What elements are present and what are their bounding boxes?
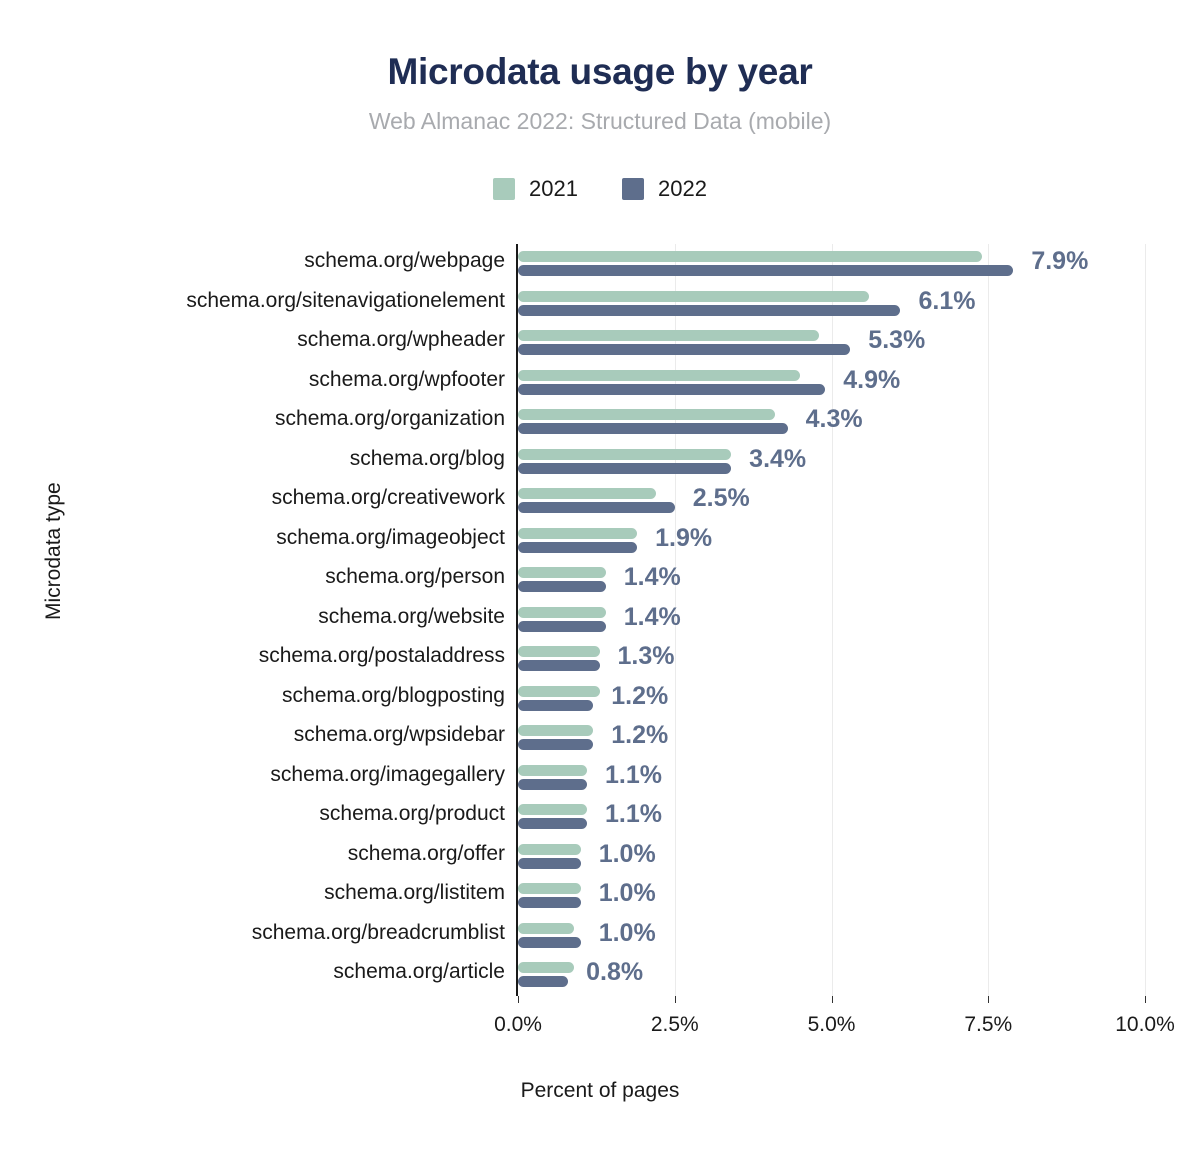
bar-2022[interactable] — [518, 542, 637, 553]
value-label: 7.9% — [1031, 250, 1088, 272]
value-label: 1.0% — [599, 882, 656, 904]
value-label: 3.4% — [749, 448, 806, 470]
bar-2021[interactable] — [518, 370, 800, 381]
value-label: 5.3% — [868, 329, 925, 351]
value-label: 1.2% — [611, 685, 668, 707]
x-tick-mark — [518, 996, 519, 1003]
legend-swatch-2021 — [493, 178, 515, 200]
value-label: 1.0% — [599, 922, 656, 944]
category-label: schema.org/wpheader — [297, 329, 505, 350]
category-label: schema.org/blog — [350, 448, 505, 469]
bar-2022[interactable] — [518, 384, 825, 395]
bar-2022[interactable] — [518, 305, 900, 316]
x-tick-label: 5.0% — [808, 1013, 856, 1037]
value-label: 1.3% — [618, 645, 675, 667]
chart-legend: 2021 2022 — [0, 176, 1200, 202]
x-tick-mark — [1145, 996, 1146, 1003]
category-label: schema.org/sitenavigationelement — [186, 290, 505, 311]
value-label: 1.0% — [599, 843, 656, 865]
chart-title: Microdata usage by year — [0, 52, 1200, 93]
value-label: 1.4% — [624, 566, 681, 588]
value-label: 1.4% — [624, 606, 681, 628]
legend-item-2021[interactable]: 2021 — [493, 176, 578, 202]
bar-row: schema.org/organization4.3% — [518, 402, 1145, 442]
bar-2022[interactable] — [518, 818, 587, 829]
category-label: schema.org/creativework — [272, 487, 505, 508]
value-label: 1.9% — [655, 527, 712, 549]
x-axis-title: Percent of pages — [0, 1079, 1200, 1103]
category-label: schema.org/offer — [348, 843, 505, 864]
value-label: 4.9% — [843, 369, 900, 391]
category-label: schema.org/imageobject — [276, 527, 505, 548]
bar-2022[interactable] — [518, 897, 581, 908]
bar-row: schema.org/imagegallery1.1% — [518, 758, 1145, 798]
bar-row: schema.org/offer1.0% — [518, 837, 1145, 877]
bar-row: schema.org/wpsidebar1.2% — [518, 718, 1145, 758]
bar-row: schema.org/blogposting1.2% — [518, 679, 1145, 719]
legend-label-2022: 2022 — [658, 176, 707, 202]
legend-item-2022[interactable]: 2022 — [622, 176, 707, 202]
bar-2022[interactable] — [518, 976, 568, 987]
y-axis-title: Microdata type — [42, 482, 66, 620]
chart-container: Microdata usage by year Web Almanac 2022… — [0, 0, 1200, 1164]
bar-row: schema.org/wpfooter4.9% — [518, 363, 1145, 403]
value-label: 1.2% — [611, 724, 668, 746]
category-label: schema.org/imagegallery — [270, 764, 505, 785]
category-label: schema.org/product — [319, 803, 505, 824]
bar-2022[interactable] — [518, 463, 731, 474]
legend-swatch-2022 — [622, 178, 644, 200]
bar-2021[interactable] — [518, 646, 600, 657]
bar-2021[interactable] — [518, 528, 637, 539]
x-tick-mark — [988, 996, 989, 1003]
bar-2021[interactable] — [518, 923, 574, 934]
bar-2021[interactable] — [518, 251, 982, 262]
bar-row: schema.org/creativework2.5% — [518, 481, 1145, 521]
category-label: schema.org/listitem — [324, 882, 505, 903]
bar-row: schema.org/article0.8% — [518, 955, 1145, 995]
bar-2022[interactable] — [518, 660, 600, 671]
bar-2021[interactable] — [518, 330, 819, 341]
bar-2022[interactable] — [518, 502, 675, 513]
value-label: 1.1% — [605, 803, 662, 825]
x-tick-label: 0.0% — [494, 1013, 542, 1037]
bar-row: schema.org/breadcrumblist1.0% — [518, 916, 1145, 956]
value-label: 2.5% — [693, 487, 750, 509]
bar-2022[interactable] — [518, 423, 788, 434]
bar-2021[interactable] — [518, 488, 656, 499]
bar-2022[interactable] — [518, 344, 850, 355]
bar-row: schema.org/webpage7.9% — [518, 244, 1145, 284]
category-label: schema.org/article — [333, 961, 505, 982]
value-label: 6.1% — [918, 290, 975, 312]
x-tick-label: 7.5% — [964, 1013, 1012, 1037]
category-label: schema.org/postaladdress — [259, 645, 505, 666]
bar-2021[interactable] — [518, 291, 869, 302]
bar-2021[interactable] — [518, 883, 581, 894]
category-label: schema.org/wpfooter — [309, 369, 505, 390]
category-label: schema.org/breadcrumblist — [252, 922, 505, 943]
x-tick-label: 10.0% — [1115, 1013, 1175, 1037]
x-tick-mark — [832, 996, 833, 1003]
bar-2022[interactable] — [518, 937, 581, 948]
bar-2022[interactable] — [518, 779, 587, 790]
gridline — [1145, 244, 1146, 996]
value-label: 4.3% — [806, 408, 863, 430]
category-label: schema.org/wpsidebar — [294, 724, 505, 745]
bar-2022[interactable] — [518, 700, 593, 711]
bar-2022[interactable] — [518, 265, 1013, 276]
bar-row: schema.org/wpheader5.3% — [518, 323, 1145, 363]
category-label: schema.org/webpage — [304, 250, 505, 271]
bar-2022[interactable] — [518, 621, 606, 632]
bar-row: schema.org/product1.1% — [518, 797, 1145, 837]
bar-2022[interactable] — [518, 739, 593, 750]
bar-row: schema.org/sitenavigationelement6.1% — [518, 284, 1145, 324]
bar-2021[interactable] — [518, 765, 587, 776]
bar-2021[interactable] — [518, 844, 581, 855]
category-label: schema.org/blogposting — [282, 685, 505, 706]
bar-2021[interactable] — [518, 449, 731, 460]
bar-row: schema.org/blog3.4% — [518, 442, 1145, 482]
bar-2021[interactable] — [518, 804, 587, 815]
category-label: schema.org/website — [318, 606, 505, 627]
bar-2021[interactable] — [518, 607, 606, 618]
bar-row: schema.org/postaladdress1.3% — [518, 639, 1145, 679]
value-label: 1.1% — [605, 764, 662, 786]
category-label: schema.org/organization — [275, 408, 505, 429]
bar-row: schema.org/imageobject1.9% — [518, 521, 1145, 561]
value-label: 0.8% — [586, 961, 643, 983]
bar-2021[interactable] — [518, 686, 600, 697]
bar-2022[interactable] — [518, 581, 606, 592]
x-tick-label: 2.5% — [651, 1013, 699, 1037]
bar-2021[interactable] — [518, 962, 574, 973]
bar-2021[interactable] — [518, 567, 606, 578]
bar-row: schema.org/website1.4% — [518, 600, 1145, 640]
chart-subtitle: Web Almanac 2022: Structured Data (mobil… — [0, 108, 1200, 136]
plot-area: schema.org/webpage7.9%schema.org/sitenav… — [518, 244, 1145, 996]
x-tick-mark — [675, 996, 676, 1003]
legend-label-2021: 2021 — [529, 176, 578, 202]
bar-2021[interactable] — [518, 409, 775, 420]
bar-2022[interactable] — [518, 858, 581, 869]
bar-row: schema.org/listitem1.0% — [518, 876, 1145, 916]
bar-2021[interactable] — [518, 725, 593, 736]
bar-row: schema.org/person1.4% — [518, 560, 1145, 600]
category-label: schema.org/person — [325, 566, 505, 587]
